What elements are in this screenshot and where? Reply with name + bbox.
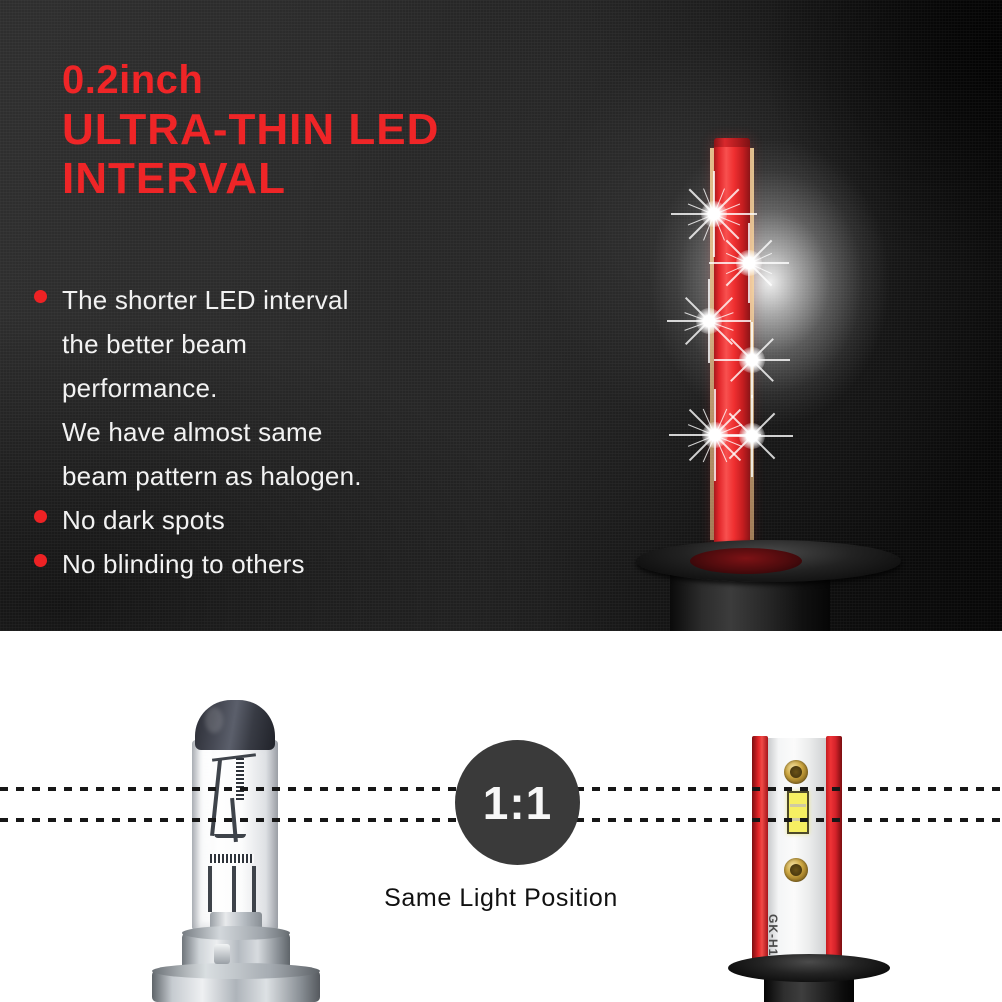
halogen-base-notch — [214, 944, 230, 964]
product-infographic: 0.2inch ULTRA-THIN LED INTERVAL The shor… — [0, 0, 1002, 1002]
bullet-dot-icon — [34, 554, 47, 567]
bullet-text: We have almost same — [62, 410, 323, 454]
bullet-text: beam pattern as halogen. — [62, 454, 362, 498]
led-screw-top — [784, 760, 808, 784]
red-led-strip — [714, 140, 750, 548]
filament-bridge — [214, 834, 246, 838]
ratio-badge-label: 1:1 — [483, 780, 552, 826]
led-rail-right — [826, 736, 842, 960]
halogen-base-flange — [152, 970, 320, 1002]
headline-measure: 0.2inch — [62, 60, 439, 100]
led-strip-tip — [714, 138, 750, 147]
headline-line-2: INTERVAL — [62, 154, 439, 203]
filament-coil — [210, 854, 254, 863]
beam-glow-halo — [620, 102, 920, 462]
halogen-black-tip — [195, 700, 275, 750]
list-item: the better beam — [34, 322, 514, 366]
bullet-text: No blinding to others — [62, 542, 305, 586]
filament-coil — [236, 758, 244, 800]
bullet-text: the better beam — [62, 322, 247, 366]
led-model-marking: GK-H1 — [766, 914, 780, 956]
led-mounting-flange — [728, 954, 890, 982]
halogen-bulb-image — [140, 700, 340, 1002]
feature-bullet-list: The shorter LED interval the better beam… — [34, 278, 514, 586]
bullet-text: No dark spots — [62, 498, 225, 542]
bullet-dot-icon — [34, 510, 47, 523]
led-bulb-compare-image: GK-H1 — [724, 736, 894, 1002]
top-dark-panel: 0.2inch ULTRA-THIN LED INTERVAL The shor… — [0, 0, 1002, 631]
list-item: No dark spots — [34, 498, 514, 542]
list-item: No blinding to others — [34, 542, 514, 586]
led-screw-bottom — [784, 858, 808, 882]
headline-line-1: ULTRA-THIN LED — [62, 105, 439, 154]
bulb-inner-ring — [690, 548, 802, 574]
bullet-text: The shorter LED interval — [62, 278, 349, 322]
led-bulb-hero-image — [598, 96, 958, 631]
comparison-caption: Same Light Position — [0, 884, 1002, 913]
list-item: The shorter LED interval — [34, 278, 514, 322]
list-item: beam pattern as halogen. — [34, 454, 514, 498]
list-item: performance. — [34, 366, 514, 410]
led-emitter-chip — [787, 791, 809, 834]
headline-block: 0.2inch ULTRA-THIN LED INTERVAL — [62, 60, 439, 204]
ratio-badge: 1:1 — [455, 740, 580, 865]
bullet-dot-icon — [34, 290, 47, 303]
bullet-text: performance. — [62, 366, 218, 410]
list-item: We have almost same — [34, 410, 514, 454]
